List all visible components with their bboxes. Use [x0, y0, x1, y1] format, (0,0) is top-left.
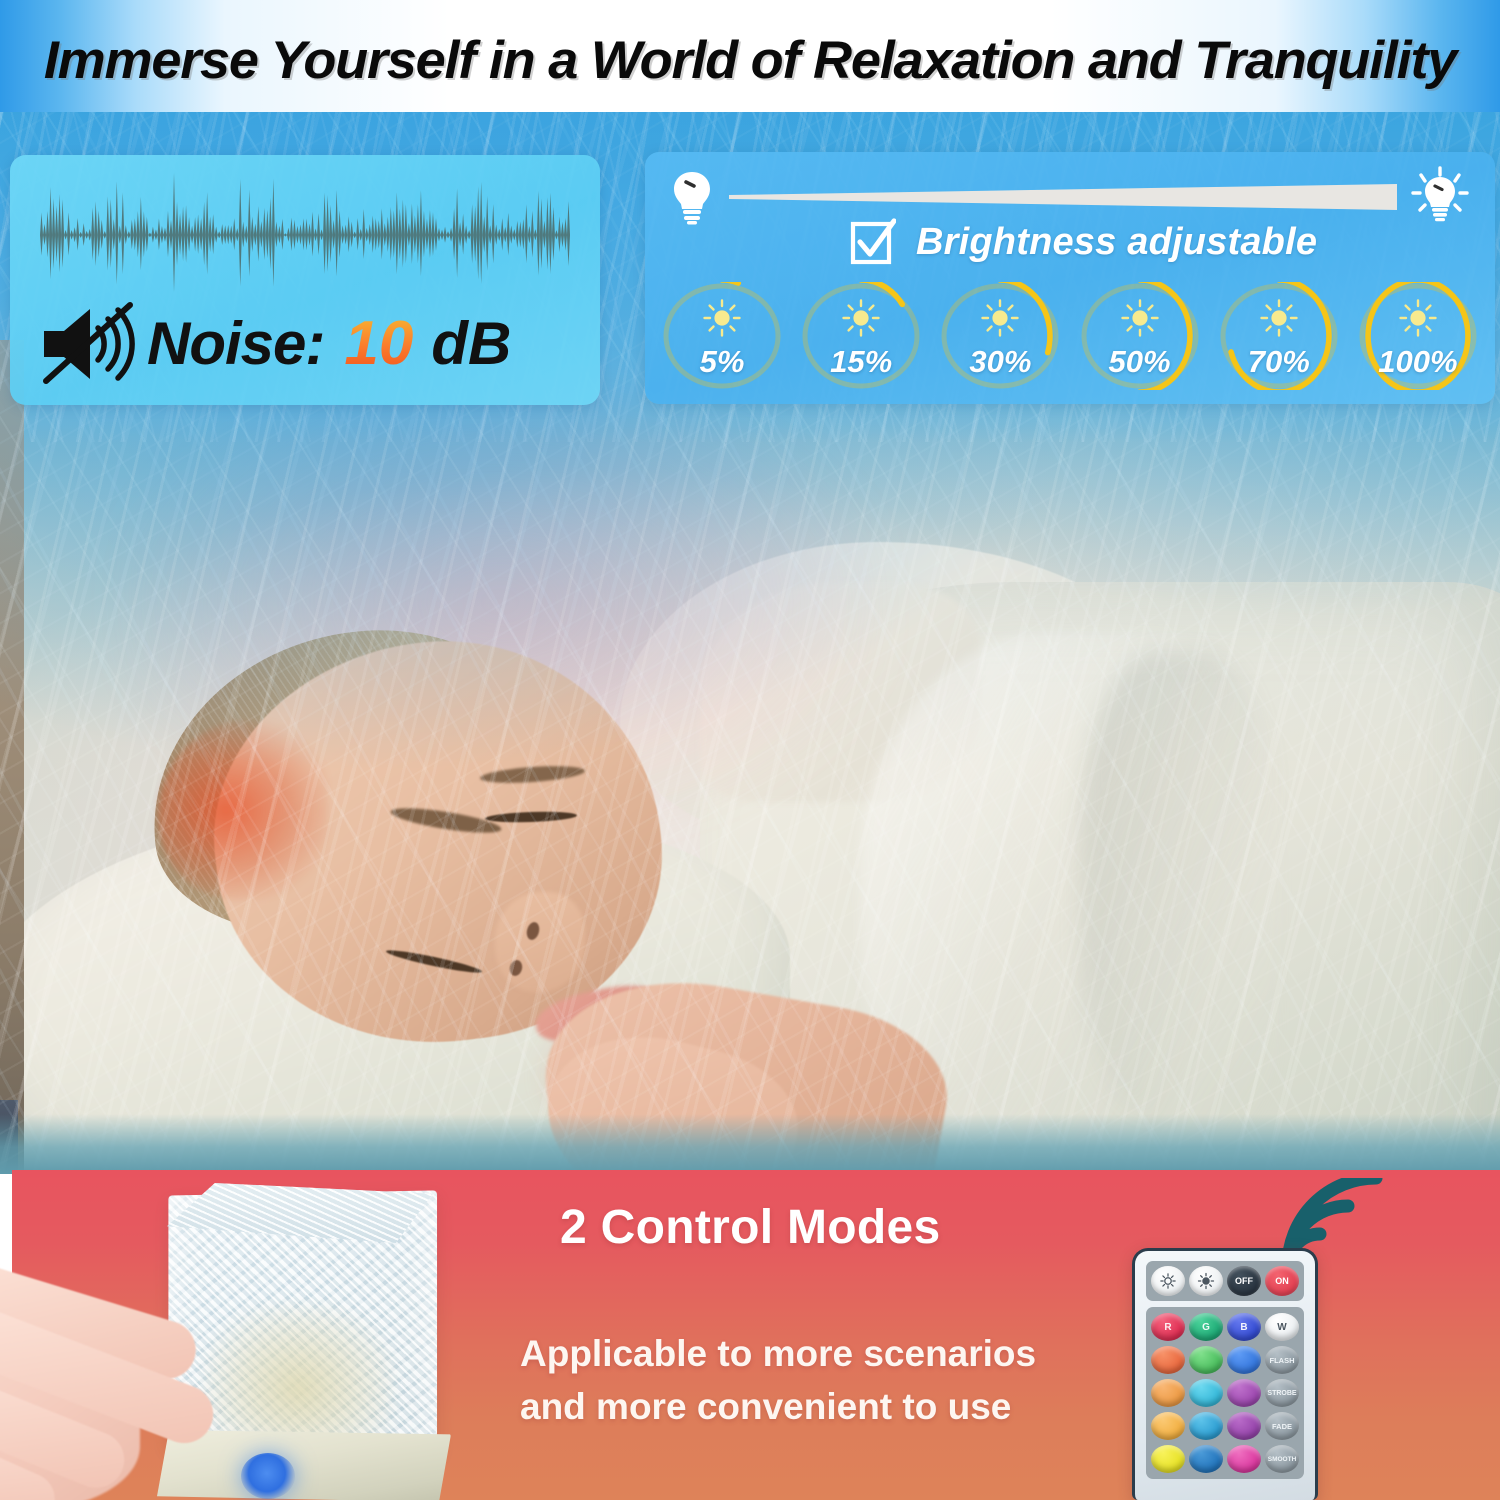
- remote-color-magenta[interactable]: [1227, 1445, 1261, 1473]
- brightness-down-icon[interactable]: [1151, 1266, 1185, 1296]
- remote-flash-button[interactable]: FLASH: [1265, 1346, 1299, 1374]
- remote-color-purple[interactable]: [1227, 1379, 1261, 1407]
- remote-color-grid: R G B W FLASH STROBE FADE SMOOTH: [1146, 1307, 1304, 1479]
- touch-button[interactable]: [241, 1453, 295, 1499]
- headline-banner: Immerse Yourself in a World of Relaxatio…: [0, 0, 1500, 118]
- photo-bottom-fade: [0, 1114, 1500, 1174]
- brightness-level-50[interactable]: 50%: [1079, 282, 1201, 390]
- brightness-level-30[interactable]: 30%: [939, 282, 1061, 390]
- brightness-level-label: 30%: [969, 346, 1031, 377]
- remote-top-row: OFF ON: [1146, 1261, 1304, 1301]
- sun-icon: [1259, 298, 1299, 338]
- control-modes-subtitle: Applicable to more scenarios and more co…: [520, 1328, 1036, 1433]
- remote-fade-button[interactable]: FADE: [1265, 1412, 1299, 1440]
- remote-strobe-button[interactable]: STROBE: [1265, 1379, 1299, 1407]
- remote-color-skyblue[interactable]: [1189, 1412, 1223, 1440]
- headline-text: Immerse Yourself in a World of Relaxatio…: [0, 30, 1500, 91]
- remote-color-yelloworange[interactable]: [1151, 1412, 1185, 1440]
- control-modes-title: 2 Control Modes: [560, 1200, 941, 1255]
- sun-icon: [1120, 298, 1160, 338]
- checked-checkbox-icon: [850, 218, 896, 266]
- brightness-adjustable-label: Brightness adjustable: [916, 221, 1317, 264]
- slider-track[interactable]: [729, 184, 1397, 210]
- remote-color-amber[interactable]: [1151, 1379, 1185, 1407]
- brightness-level-label: 70%: [1248, 346, 1310, 377]
- brightness-level-70[interactable]: 70%: [1218, 282, 1340, 390]
- noise-value: 10: [328, 313, 427, 375]
- noise-readout-row: Noise: 10 dB: [38, 301, 511, 387]
- noise-level-card: Noise: 10 dB: [10, 155, 600, 405]
- muted-speaker-icon: [38, 301, 143, 387]
- noise-unit: dB: [431, 314, 511, 374]
- remote-color-cyan[interactable]: [1189, 1379, 1223, 1407]
- remote-smooth-button[interactable]: SMOOTH: [1265, 1445, 1299, 1473]
- brightness-level-list: 5% 15%: [661, 280, 1479, 392]
- product-infographic: Immerse Yourself in a World of Relaxatio…: [0, 0, 1500, 1500]
- audio-waveform-icon: [40, 171, 570, 299]
- remote-color-orange[interactable]: [1151, 1346, 1185, 1374]
- brightness-card: Brightness adjustable 5%: [645, 152, 1495, 404]
- pointing-hand: [0, 1270, 190, 1500]
- remote-color-w[interactable]: W: [1265, 1313, 1299, 1341]
- brightness-feature-row: Brightness adjustable: [850, 218, 1317, 266]
- sun-icon: [980, 298, 1020, 338]
- sun-icon: [702, 298, 742, 338]
- brightness-level-15[interactable]: 15%: [800, 282, 922, 390]
- remote-color-r[interactable]: R: [1151, 1313, 1185, 1341]
- sun-icon: [841, 298, 881, 338]
- brightness-level-label: 5%: [700, 346, 745, 377]
- remote-color-lightgreen[interactable]: [1189, 1346, 1223, 1374]
- control-modes-subtitle-line2: and more convenient to use: [520, 1381, 1036, 1434]
- noise-label: Noise:: [147, 314, 324, 374]
- remote-color-darkblue[interactable]: [1189, 1445, 1223, 1473]
- brightness-level-5[interactable]: 5%: [661, 282, 783, 390]
- control-modes-subtitle-line1: Applicable to more scenarios: [520, 1328, 1036, 1381]
- remote-color-b[interactable]: B: [1227, 1313, 1261, 1341]
- remote-color-violet[interactable]: [1227, 1412, 1261, 1440]
- sun-icon: [1398, 298, 1438, 338]
- brightness-level-label: 15%: [830, 346, 892, 377]
- brightness-level-label: 100%: [1378, 346, 1457, 377]
- remote-color-g[interactable]: G: [1189, 1313, 1223, 1341]
- dim-bulb-icon: [669, 169, 715, 225]
- brightness-up-icon[interactable]: [1189, 1266, 1223, 1296]
- brightness-level-label: 50%: [1109, 346, 1171, 377]
- remote-color-yellow[interactable]: [1151, 1445, 1185, 1473]
- remote-color-blue[interactable]: [1227, 1346, 1261, 1374]
- remote-off-button[interactable]: OFF: [1227, 1266, 1261, 1296]
- brightness-level-100[interactable]: 100%: [1357, 282, 1479, 390]
- bright-bulb-icon: [1409, 166, 1471, 228]
- rgb-remote-control[interactable]: OFF ON R G B W FLASH STROBE FADE: [1132, 1248, 1318, 1500]
- lamp-inner-glow: [203, 1305, 393, 1445]
- remote-on-button[interactable]: ON: [1265, 1266, 1299, 1296]
